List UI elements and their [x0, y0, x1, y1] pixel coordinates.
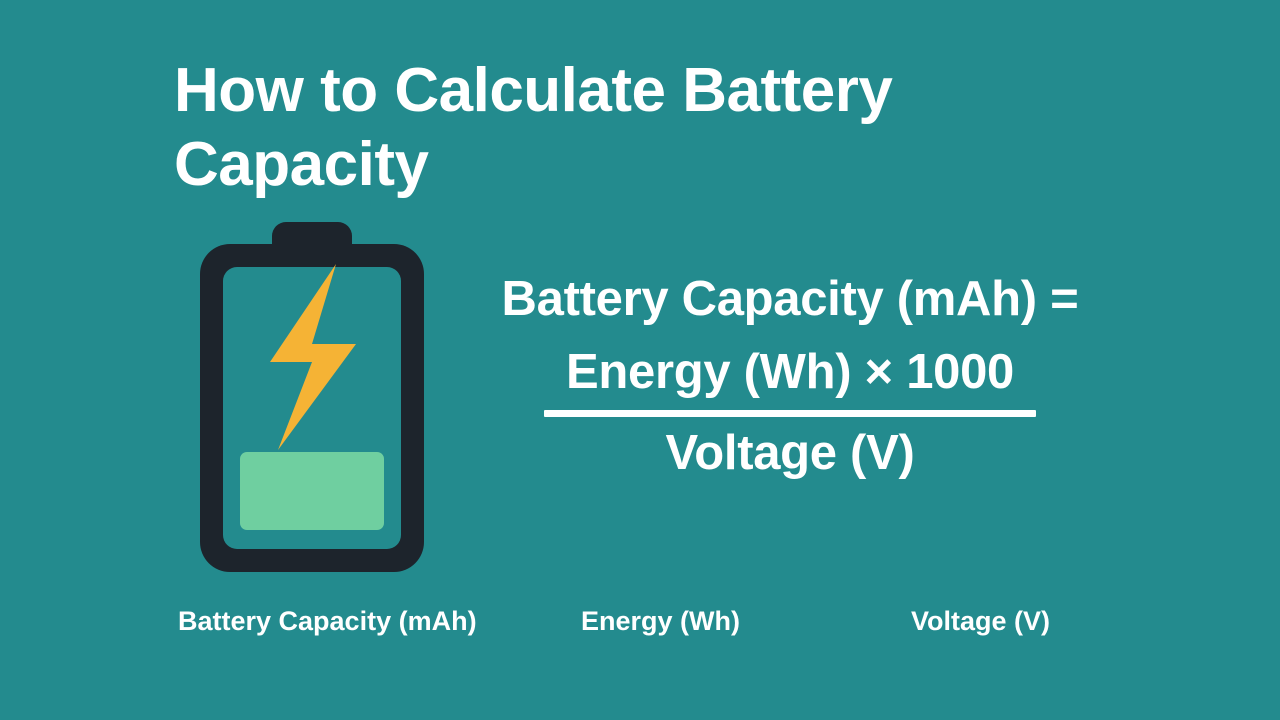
charging-battery-icon: [196, 222, 428, 574]
battery-illustration: [196, 222, 428, 574]
formula-fraction: Energy (Wh) × 1000 Voltage (V): [440, 342, 1140, 483]
formula-block: Battery Capacity (mAh) = Energy (Wh) × 1…: [440, 268, 1140, 483]
formula-numerator: Energy (Wh) × 1000: [440, 342, 1140, 402]
legend-voltage: Voltage (V): [911, 603, 1050, 639]
battery-charge-level-bar: [240, 452, 384, 530]
legend-energy: Energy (Wh): [581, 603, 740, 639]
fraction-bar: [544, 410, 1036, 417]
page-title: How to Calculate Battery Capacity: [174, 54, 994, 202]
slide-canvas: How to Calculate Battery Capacity Batter…: [0, 0, 1280, 720]
legend-battery-capacity: Battery Capacity (mAh): [178, 603, 477, 639]
formula-left-hand-side: Battery Capacity (mAh) =: [440, 268, 1140, 330]
formula-denominator: Voltage (V): [440, 423, 1140, 483]
